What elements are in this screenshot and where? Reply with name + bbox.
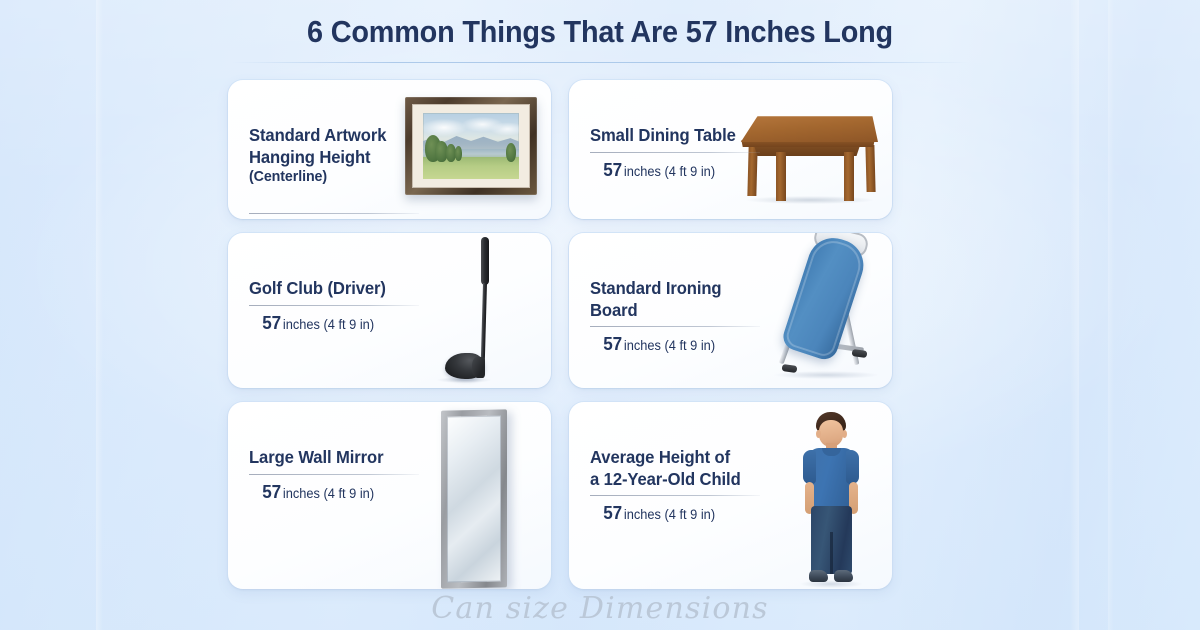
card-standard-ironing-board[interactable]: Standard Ironing Board 57inches (4 ft 9 … (569, 233, 892, 388)
card-title: Standard Ironing Board (590, 257, 752, 321)
card-title-subtitle: (Centerline) (249, 168, 411, 186)
golf-club-shaft (481, 283, 487, 365)
card-divider (590, 495, 760, 496)
measurement-units: inches (4 ft 9 in) (624, 164, 715, 179)
golf-club-face (472, 357, 485, 378)
child-sleeve (803, 450, 816, 484)
card-divider (249, 305, 419, 306)
table-shadow (746, 196, 874, 204)
card-text-block: Standard Artwork Hanging Height (Centerl… (249, 104, 419, 219)
painting-clouds (423, 116, 519, 137)
card-text-block: Average Height of a 12-Year-Old Child 57… (590, 426, 760, 524)
card-measurement: 57inches (4 ft 9 in) (249, 313, 411, 334)
card-title-main: Average Height of a 12-Year-Old Child (590, 447, 741, 488)
card-title-main: Standard Artwork Hanging Height (249, 125, 386, 166)
measurement-units: inches (4 ft 9 in) (624, 338, 715, 353)
card-title: Small Dining Table (590, 104, 752, 147)
table-leg (776, 152, 786, 201)
title-divider (232, 62, 968, 63)
child-shoe (834, 570, 853, 582)
mirror-frame (441, 409, 507, 588)
child-ear (816, 430, 821, 438)
measurement-units: inches (4 ft 9 in) (624, 507, 715, 522)
child-jeans (811, 506, 852, 574)
background-band (96, 0, 103, 630)
background-band (1108, 0, 1114, 630)
golf-club-icon (427, 233, 513, 385)
card-large-wall-mirror[interactable]: Large Wall Mirror 57inches (4 ft 9 in) (228, 402, 551, 589)
card-title-main: Standard Ironing Board (590, 278, 721, 319)
card-small-dining-table[interactable]: Small Dining Table 57inches (4 ft 9 in) (569, 80, 892, 219)
table-leg (865, 145, 875, 192)
footer-watermark: Can size Dimensions (0, 591, 1200, 626)
card-title: Standard Artwork Hanging Height (Centerl… (249, 104, 411, 208)
child-figure-icon (782, 410, 878, 589)
mirror-glass (447, 415, 501, 582)
card-measurement: 57inches (4 ft 9 in) (249, 482, 411, 503)
child-shoe (809, 570, 828, 582)
card-title-main: Golf Club (Driver) (249, 278, 386, 298)
ironing-board-surface (780, 233, 870, 363)
ironing-board-icon (758, 233, 890, 385)
child-ear (842, 430, 847, 438)
measurement-number: 57 (603, 503, 622, 523)
card-title: Golf Club (Driver) (249, 257, 411, 300)
background-band (1070, 0, 1079, 630)
infographic-poster: 6 Common Things That Are 57 Inches Long … (0, 0, 1200, 630)
card-divider (249, 474, 419, 475)
golf-club-grip (481, 237, 489, 285)
card-title-main: Large Wall Mirror (249, 447, 383, 467)
card-average-height-12-year-old[interactable]: Average Height of a 12-Year-Old Child 57… (569, 402, 892, 589)
card-golf-club-driver[interactable]: Golf Club (Driver) 57inches (4 ft 9 in) (228, 233, 551, 388)
card-text-block: Standard Ironing Board 57inches (4 ft 9 … (590, 257, 760, 355)
card-title-main: Small Dining Table (590, 125, 736, 145)
measurement-units: inches (4 ft 9 in) (283, 486, 374, 501)
card-title: Average Height of a 12-Year-Old Child (590, 426, 752, 490)
card-measurement: 57inches (4 ft 9 in) (590, 334, 752, 355)
card-text-block: Golf Club (Driver) 57inches (4 ft 9 in) (249, 257, 419, 334)
card-text-block: Small Dining Table 57inches (4 ft 9 in) (590, 104, 760, 181)
cards-grid: Standard Artwork Hanging Height (Centerl… (228, 80, 892, 589)
page-title: 6 Common Things That Are 57 Inches Long (0, 14, 1200, 51)
card-divider (249, 213, 419, 214)
card-text-block: Large Wall Mirror 57inches (4 ft 9 in) (249, 426, 419, 503)
card-standard-artwork-hanging-height[interactable]: Standard Artwork Hanging Height (Centerl… (228, 80, 551, 219)
card-divider (590, 326, 760, 327)
page-title-text: 6 Common Things That Are 57 Inches Long (42, 14, 1158, 51)
artwork-mat (412, 104, 530, 188)
child-sleeve (846, 450, 859, 484)
measurement-number: 57 (262, 313, 281, 333)
card-divider (590, 152, 760, 153)
wall-mirror-icon (433, 410, 525, 589)
measurement-number: 57 (603, 160, 622, 180)
child-shadow (800, 580, 862, 588)
measurement-units: inches (4 ft 9 in) (283, 317, 374, 332)
table-leg (844, 152, 854, 201)
painting-tree (506, 143, 517, 161)
card-measurement: 57inches (4 ft 9 in) (590, 503, 752, 524)
framed-artwork-icon (405, 97, 537, 195)
artwork-landscape (423, 113, 519, 179)
card-measurement: 57inches (4 ft 9 in) (590, 160, 752, 181)
measurement-number: 57 (603, 334, 622, 354)
card-title: Large Wall Mirror (249, 426, 411, 469)
measurement-number: 57 (262, 482, 281, 502)
